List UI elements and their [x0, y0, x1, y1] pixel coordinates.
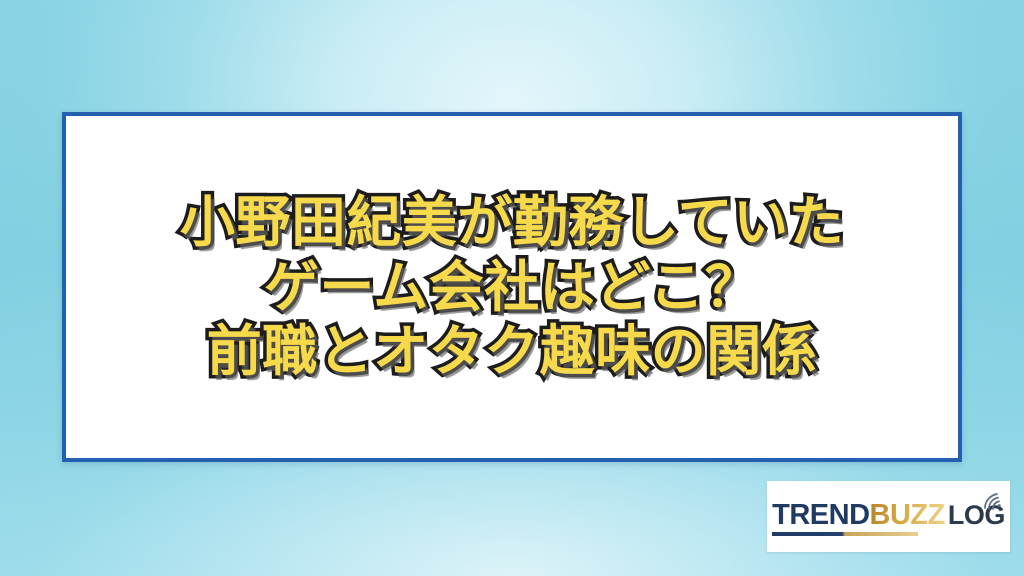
headline-line-2: ゲーム会社はどこ？: [180, 255, 844, 320]
wifi-signal-icon: [981, 488, 1007, 510]
headline-block: 小野田紀美が勤務していた ゲーム会社はどこ？ 前職とオタク趣味の関係: [180, 190, 844, 385]
logo-wordmark: TREND BUZZ LOG: [772, 501, 1005, 530]
headline-line-3: 前職とオタク趣味の関係: [180, 319, 844, 384]
headline-line-1: 小野田紀美が勤務していた: [180, 190, 844, 255]
logo-underline-bar: [772, 532, 918, 536]
logo-text-trend: TREND: [772, 501, 869, 530]
site-logo[interactable]: TREND BUZZ LOG: [767, 481, 1010, 552]
logo-inner: TREND BUZZ LOG: [772, 501, 1005, 532]
headline-card: 小野田紀美が勤務していた ゲーム会社はどこ？ 前職とオタク趣味の関係: [62, 112, 962, 462]
thumbnail-stage: 小野田紀美が勤務していた ゲーム会社はどこ？ 前職とオタク趣味の関係 TREND…: [0, 0, 1024, 576]
logo-text-buzz: BUZZ: [870, 501, 945, 530]
